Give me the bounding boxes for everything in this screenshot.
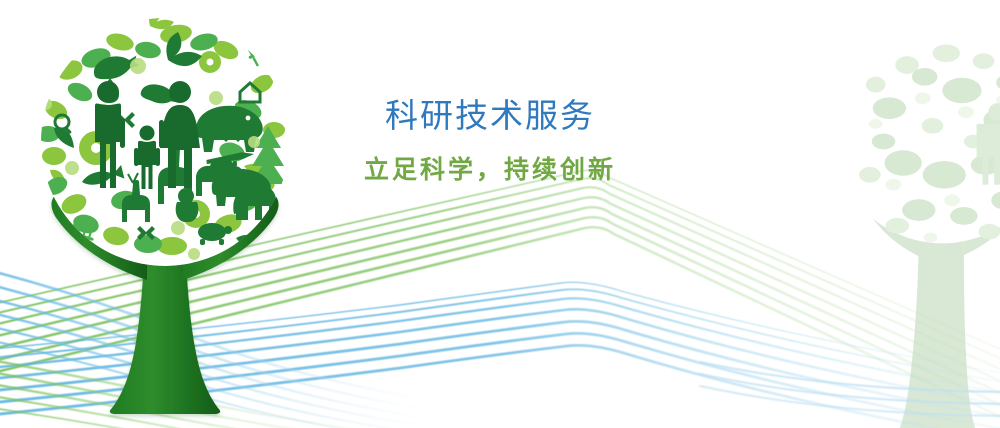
page-subtitle: 立足科学，持续创新 <box>330 153 650 187</box>
canopy-mid-elements <box>36 27 291 253</box>
tree-trunk <box>51 188 278 414</box>
ghost-family-figures <box>977 103 1000 184</box>
flowing-ribbon-lines <box>0 0 1000 428</box>
ribbon-group-blue-chevron <box>0 282 1000 428</box>
canopy-light-elements <box>42 6 285 255</box>
canopy-pale-accents <box>40 58 260 260</box>
tree-canopy <box>36 6 291 266</box>
ribbon-group-blue-right-tail <box>700 362 1000 416</box>
figure-woman <box>159 81 200 188</box>
page-title: 科研技术服务 <box>330 96 650 136</box>
ribbon-group-green-chevron <box>0 170 1000 426</box>
figure-child <box>134 126 160 190</box>
biodiversity-tree <box>0 0 1000 428</box>
hero-banner: 科研技术服务 立足科学，持续创新 <box>0 0 1000 428</box>
ribbon-group-green-left-sweep <box>0 358 380 428</box>
biodiversity-tree-ghost <box>0 0 1000 428</box>
figure-man <box>95 81 125 188</box>
family-figures <box>95 81 200 189</box>
ghost-tree-canopy <box>833 24 1000 244</box>
headline-block: 科研技术服务 立足科学，持续创新 <box>330 96 650 187</box>
ribbon-group-blue-left-sweep <box>0 268 420 428</box>
canopy-animal-silhouettes <box>54 32 276 247</box>
ghost-tree-trunk <box>861 185 1000 428</box>
